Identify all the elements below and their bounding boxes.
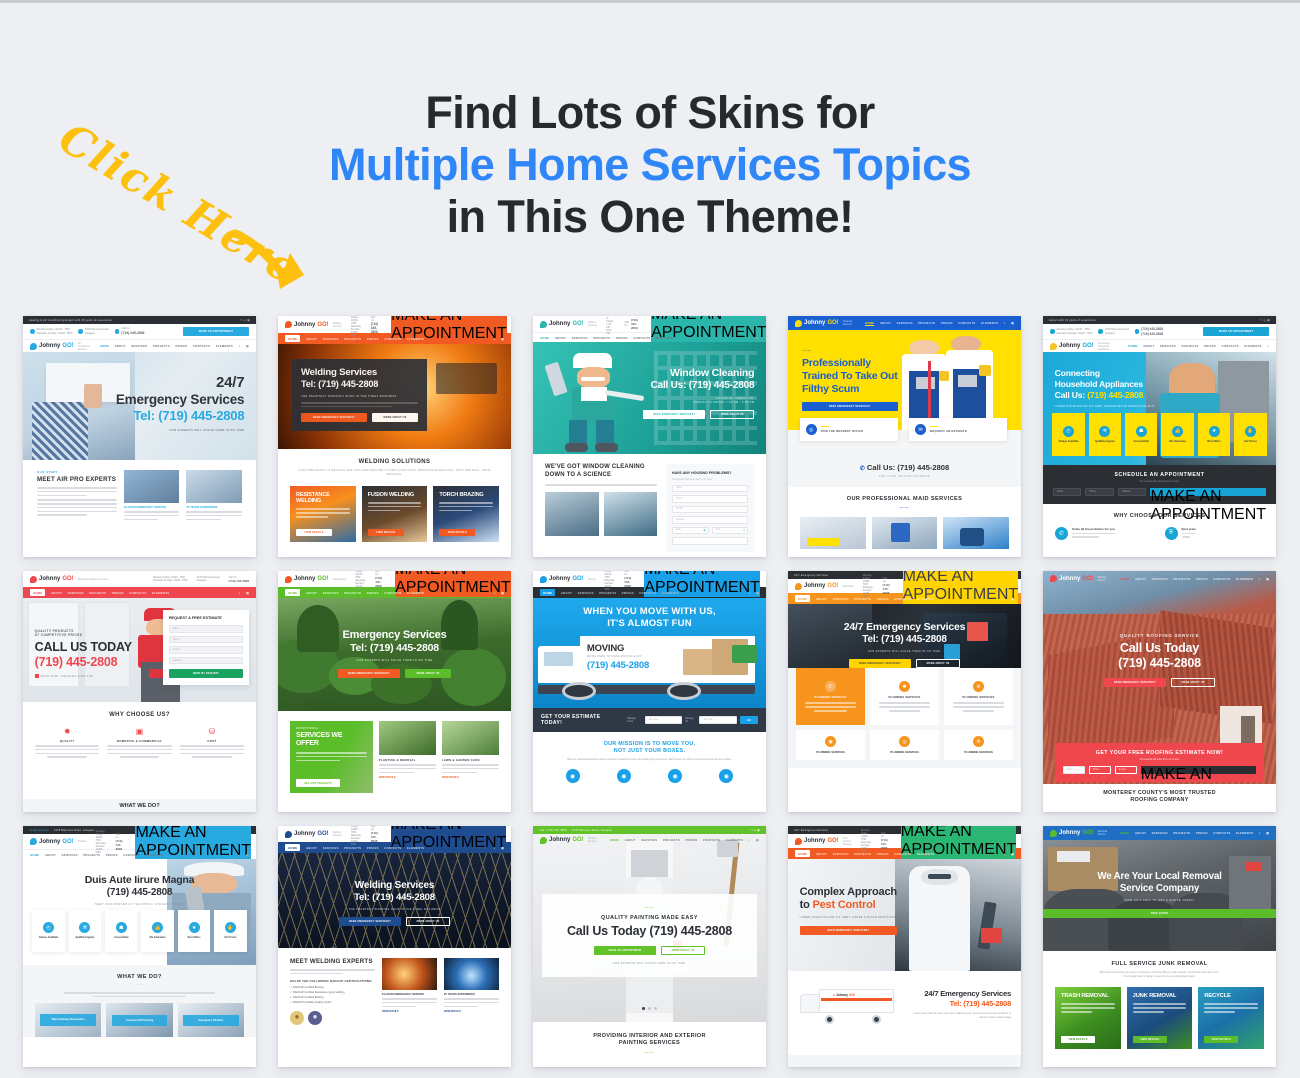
more-button[interactable]: MORE ABOUT US — [405, 669, 451, 678]
search-icon[interactable]: ⌕ — [1259, 577, 1261, 581]
hero-sub: GIVE US A CALL TO GET A QUOTE TODAY! — [1043, 899, 1276, 902]
search-icon[interactable]: ⌕ — [1259, 831, 1261, 835]
hero-hours: Mon-Fri: 10 AM - 7 PM, Sat-Sun: 10 AM - … — [41, 675, 93, 678]
emergency-button[interactable]: NEED EMERGENCY SERVICES? — [643, 410, 705, 419]
cert-item-4: ✓ NADCAP Certified Quality control — [290, 1001, 375, 1006]
badge-label-5: Best Offers — [1207, 440, 1220, 443]
hero-phone: Tel: (719) 445-2808 — [788, 634, 1021, 645]
badge-label-2: Qualified Agents — [75, 936, 94, 939]
input-phone[interactable]: Phone — [672, 495, 748, 503]
section-title-2: PAINTING SERVICES — [533, 1040, 766, 1046]
social-icons[interactable]: f t g ▣ — [750, 828, 760, 832]
form-title: SCHEDULE AN APPOINTMENT — [1053, 472, 1266, 478]
view-details-button-2[interactable]: VIEW DETAILS — [1133, 1036, 1167, 1043]
view-details-2[interactable]: VIEW DETAILS — [444, 1010, 499, 1013]
more-button[interactable]: MORE ABOUT US — [710, 410, 754, 419]
hero-sub: OUR EXPERTS WILL SOLVE THEM IN NO TIME. — [788, 650, 1021, 653]
form-sub: Our experts will solve them in no time — [1053, 480, 1266, 483]
hero-phone: Tel: (719) 445-2808 — [278, 892, 511, 903]
hero-phone: Tel: (719) 445-2808 — [278, 642, 511, 654]
wave-icon: 〰〰 — [802, 348, 898, 354]
search-icon[interactable]: ⌕ — [494, 846, 496, 850]
view-details-button-1[interactable]: VIEW DETAILS — [1061, 1036, 1095, 1043]
service-icon-3: ⚙ — [973, 681, 984, 692]
more-button[interactable]: MORE ABOUT US — [661, 946, 705, 955]
page-canvas: Click Here Find Lots of Skins for Multip… — [0, 3, 1300, 1078]
cart-icon[interactable]: ▣ — [756, 591, 759, 595]
logo[interactable]: JohnnyGO! Welding Services — [285, 321, 342, 328]
logo[interactable]: JohnnyGO! Landscaping — [285, 576, 346, 583]
truck-sub: WE'RE HERE TO MAKE MOVING EASY! — [587, 655, 663, 658]
service-icon-6: ✲ — [973, 736, 984, 747]
star-icon: ★ — [1209, 426, 1220, 437]
topbar-tagline: 24/7 Emergency Services — [794, 829, 828, 832]
hero-kicker: QUALITY ROOFING SERVICE — [1043, 633, 1276, 638]
hero-kicker: QUALITY PAINTING MADE EASY — [550, 915, 748, 921]
badge-label-6: Fair Prices — [1244, 440, 1257, 443]
input-name[interactable]: Name — [1053, 488, 1081, 496]
more-button[interactable]: MORE ABOUT US — [1171, 678, 1215, 687]
section-title: WHY CHOOSE US? — [35, 712, 244, 718]
hero-title-2: Service Company — [1043, 883, 1276, 894]
input-email[interactable]: E-mail — [169, 646, 243, 654]
section-sub: OUR STRENGTHS IN WELDING ARE FOCUSED ARO… — [290, 469, 499, 478]
view-details-button-3[interactable]: VIEW DETAILS — [439, 529, 475, 536]
location-icon: ◎ — [806, 424, 817, 435]
thumb-cleaning-maid[interactable]: JohnnyGO! Cleaning Services HOME ABOUTSE… — [788, 316, 1021, 557]
logo[interactable]: JohnnyGO! Removal Service — [1050, 830, 1113, 837]
clock-icon: ◴ — [743, 529, 745, 532]
phone-icon: ✆ — [1055, 527, 1068, 540]
topbar-address: 4378 Marmora Road, Glasgow — [572, 829, 613, 832]
emergency-button[interactable]: NEED EMERGENCY SERVICES? — [301, 413, 367, 422]
emergency-button[interactable]: NEED EMERGENCY SERVICES? — [802, 402, 898, 411]
hours-line-2: Saturday-Sunday: 10AM - 5PM — [37, 332, 73, 335]
thumb-electrician[interactable]: 24/7 Emergency Services f t g ▣ JohnnyGO… — [788, 571, 1021, 812]
input-email[interactable]: E-mail — [672, 506, 748, 514]
view-details-button-3[interactable]: VIEW DETAILS — [1204, 1036, 1238, 1043]
logo[interactable]: JohnnyGO! Connecting Household Appliance… — [1050, 342, 1121, 351]
search-icon[interactable]: ⌕ — [1004, 597, 1006, 601]
input-address[interactable]: Address — [169, 657, 243, 665]
check-icon: ✓ — [290, 1001, 292, 1004]
cart-icon[interactable]: ▣ — [1011, 597, 1014, 601]
field-label-2: Moving To — [685, 717, 696, 723]
send-request-button[interactable]: SEND MY REQUEST — [169, 669, 243, 678]
card-title-1: 24-HOUR EMERGENCY SERVICE — [382, 993, 437, 996]
hero-title-2: IT'S ALMOST FUN — [533, 618, 766, 629]
headline-line-3: in This One Theme! — [0, 191, 1300, 243]
logo[interactable]: JohnnyGO! Air Conditioner Services — [30, 342, 93, 351]
thumb-pest-control[interactable]: 24/7 Emergency Services f t g ▣ JohnnyGO… — [788, 826, 1021, 1067]
logo-bubble-icon — [540, 837, 547, 844]
wave-icon: 〰〰 — [550, 905, 748, 911]
person-icon: ☗ — [1136, 426, 1147, 437]
hero-phone: (719) 445-2808 — [23, 887, 256, 898]
free-quote-button[interactable]: FREE QUOTE — [1043, 909, 1276, 918]
hero-title-1: WHEN YOU MOVE WITH US, — [533, 606, 766, 617]
badge-icon-1: ◉ — [566, 769, 580, 783]
truck-word: MOVING — [587, 643, 663, 654]
hero-kicker-2: AT COMPETITIVE PRICES — [35, 633, 132, 637]
hero-title: CALL US TODAY — [35, 640, 132, 654]
logo-bubble-icon — [285, 321, 292, 328]
thumb-moving[interactable]: JohnnyGO! Moving Monday-Friday: 10AM - 7… — [533, 571, 766, 812]
cart-icon[interactable]: ▣ — [756, 838, 759, 842]
search-icon[interactable]: ⌕ — [238, 853, 240, 857]
search-icon[interactable]: ⌕ — [239, 591, 241, 595]
card-title-1: TRASH REMOVAL — [1061, 993, 1115, 999]
section-sub: We're a professional local moving compan… — [547, 758, 752, 762]
cart-icon[interactable]: ▣ — [1266, 831, 1269, 835]
badge-label-6: Fair Prices — [224, 936, 236, 939]
input-phone[interactable]: Phone — [169, 636, 243, 644]
feature-title-2: Best price — [1182, 527, 1197, 531]
view-details-2[interactable]: VIEW DETAILS — [442, 776, 499, 779]
phone-line: ✆ Call Us: (719) 445-2808 — [788, 463, 1021, 472]
gear-icon: ✲ — [1099, 426, 1110, 437]
logo-bubble-icon — [285, 831, 292, 838]
view-details-1[interactable]: VIEW DETAILS — [382, 1010, 437, 1013]
search-icon[interactable]: ⌕ — [749, 591, 751, 595]
cart-icon[interactable]: ▣ — [756, 336, 759, 340]
search-icon[interactable]: ⌕ — [494, 591, 496, 595]
cart-icon[interactable]: ▣ — [1011, 321, 1014, 325]
thumb-roofing[interactable]: JohnnyGO! Roofing Service HOME ABOUTSERV… — [1043, 571, 1276, 812]
card-title-2: 25 YEARS EXPERIENCE — [444, 993, 499, 996]
feature-title-1: Solve all the problems for you — [1072, 527, 1115, 531]
input-address[interactable]: Address — [1118, 488, 1146, 496]
logo[interactable]: JohnnyGO! Electrician — [795, 583, 854, 590]
search-icon[interactable]: ⌕ — [1267, 344, 1269, 348]
hero-sub: OUR EXPERTS WILL SOLVE THEM IN NO TIME — [116, 428, 245, 432]
thumb-welding-blue[interactable]: JohnnyGO! Welding Services Monday-Friday… — [278, 826, 511, 1067]
search-icon[interactable]: ⌕ — [238, 344, 240, 348]
wrench-icon: ⚒ — [79, 922, 90, 933]
thumb-window-cleaning[interactable]: JohnnyGO! Window Cleaning Monday to Frid… — [533, 316, 766, 557]
go-button[interactable]: GO — [740, 716, 758, 724]
section-title: MEET WELDING EXPERTS — [290, 958, 375, 965]
logo-bubble-icon: ● — [833, 993, 835, 997]
cart-icon[interactable]: ▣ — [1266, 577, 1269, 581]
service-icon-4: ◉ — [825, 736, 836, 747]
theme-skins-grid: Heating & Air Conditioning Expert with 2… — [23, 316, 1278, 1067]
section-kicker: OUR STORY — [37, 470, 117, 474]
next-section-title: WHAT WE DO? — [23, 803, 256, 809]
card-title-2: 25 YEARS EXPERIENCE — [186, 506, 242, 509]
hero-kicker: 24/7 — [116, 374, 245, 391]
check-icon: ✓ — [290, 986, 292, 989]
emergency-button[interactable]: NEED EMERGENCY SERVICES? — [339, 917, 401, 926]
hero-phone: Call Us: (719) 445-2808 — [643, 380, 754, 391]
see-projects-button[interactable]: SEE OUR PROJECTS — [296, 779, 340, 787]
card-title-1: Water Damage Restoration — [40, 1014, 96, 1025]
input-name[interactable]: Name — [169, 625, 243, 633]
emergency-button[interactable]: NEED EMERGENCY SERVICES? — [800, 926, 897, 935]
hours-label: Monday to Friday: 7:00 AM - 5:00 PM — [606, 316, 615, 335]
section-title-1: OUR MISSION IS TO MOVE YOU, — [547, 741, 752, 747]
section-title: WELDING SOLUTIONS — [290, 459, 499, 465]
emergency-button[interactable]: NEED EMERGENCY SERVICES? — [338, 669, 400, 678]
hero-title: 24/7 Emergency Services — [788, 621, 1021, 633]
headline-line-2: Multiple Home Services Topics — [0, 139, 1300, 191]
cart-icon[interactable]: ▣ — [501, 591, 504, 595]
hero-title: Duis Aute Iirure Magna — [23, 874, 256, 886]
badge-label-2: Qualified Agents — [1095, 440, 1115, 443]
estimate-title: GET YOUR ESTIMATE TODAY! — [541, 714, 622, 726]
badge-label-3: Accessibility — [114, 936, 129, 939]
section-title-2: NOT JUST YOUR BOXES. — [547, 748, 752, 754]
badge-label-4: We Guarantee — [1169, 440, 1186, 443]
submit-appointment-button[interactable]: MAKE AN APPOINTMENT — [1150, 488, 1266, 496]
section-title: WHAT WE DO? — [35, 974, 244, 980]
card-title-5: PLUMBING SERVICES — [890, 751, 919, 754]
input-phone[interactable]: Phone — [1089, 766, 1111, 774]
logo[interactable]: JohnnyGO! Window Installation Services — [30, 576, 108, 583]
slider-dots[interactable] — [533, 1007, 766, 1010]
input-message[interactable] — [672, 537, 748, 545]
box-label-1: FIND THE NEAREST OFFICE — [821, 429, 864, 433]
input-name[interactable]: Name — [1063, 766, 1085, 774]
form-title: HAVE ANY HOUSING PROBLEMS? — [672, 471, 748, 476]
band-sub: Lorem ipsum dolor sit amet conse ctetur … — [909, 1012, 1012, 1019]
cart-icon[interactable]: ▣ — [246, 344, 249, 348]
topbar-phone[interactable]: Call: (719) 445-2808 — [539, 829, 567, 832]
logo[interactable]: JohnnyGO! Window Cleaning — [540, 321, 597, 328]
service-icon-5: ◎ — [899, 736, 910, 747]
hero-title-1: Complex Approach — [800, 886, 897, 898]
star-icon: ★ — [189, 922, 200, 933]
topbar-email[interactable]: info@mail.com — [29, 829, 49, 832]
search-icon[interactable]: ⌕ — [1004, 852, 1006, 856]
logo[interactable]: JohnnyGO! Pest Control Services — [795, 837, 852, 846]
input-time[interactable]: Time◴ — [712, 527, 749, 535]
card-title-3: RECYCLE — [1204, 993, 1258, 999]
view-details-1[interactable]: VIEW DETAILS — [379, 776, 436, 779]
promo-title: SERVICES WE OFFER — [296, 732, 367, 748]
submit-appointment-button[interactable]: MAKE AN APPOINTMENT — [1141, 766, 1257, 774]
phone-icon — [115, 329, 120, 334]
main-menu[interactable]: HOME ABOUTSERVICES PROJECTSPRICES CONTAC… — [100, 344, 249, 348]
logo[interactable]: JohnnyGO! Moving — [540, 576, 595, 583]
logo[interactable]: JohnnyGO! Painting Services — [540, 837, 603, 844]
col-title-1: QUALITY — [35, 739, 99, 743]
card-title-2: Commercial Plumbing — [112, 1015, 168, 1026]
medal-icon: ✹ — [35, 727, 99, 736]
input-address[interactable]: Address — [672, 516, 748, 524]
cart-icon[interactable]: ▣ — [501, 337, 504, 341]
hero-sub: MEET OUR WORKER OF THE MONTH, STEVEN COO… — [23, 903, 256, 906]
search-icon[interactable]: ⌕ — [748, 838, 750, 842]
cert-title: HOLDS THE FOLLOWING NADCAP CERTIFICATION… — [290, 979, 375, 983]
page-title: Find Lots of Skins for Multiple Home Ser… — [0, 87, 1300, 244]
hero-sub: THE SMARTEST WORKING SHOP IN THE STEEL B… — [301, 394, 418, 398]
band-phone: Tel: (719) 445-2808 — [909, 999, 1012, 1008]
appointment-button[interactable]: MAKE AN APPOINTMENT — [1203, 327, 1269, 336]
logo[interactable]: JohnnyGO! Cleaning Services — [795, 320, 858, 327]
card-title-6: PLUMBING SERVICES — [964, 751, 993, 754]
section-title-2: ROOFING COMPANY — [1043, 797, 1276, 803]
coins-icon: ⛁ — [180, 727, 244, 736]
topbar-address: 4378 Marmora Road, Glasgow — [54, 829, 95, 832]
input-moving-to[interactable]: Zip Code — [699, 716, 737, 724]
card-title-3: TORCH BRAZING — [439, 492, 493, 498]
logo-bubble-icon — [540, 576, 547, 583]
search-icon[interactable]: ⌕ — [1004, 321, 1006, 325]
cart-icon[interactable]: ▣ — [246, 853, 249, 857]
cart-icon[interactable]: ▣ — [246, 591, 249, 595]
logo-bubble-icon — [30, 576, 37, 583]
section-title: OUR PROFESSIONAL MAID SERVICES — [800, 496, 1009, 502]
badge-icon-3: ◉ — [668, 769, 682, 783]
thumb-window-installation[interactable]: JohnnyGO! Window Installation Services M… — [23, 571, 256, 812]
band-sub: Our experts will solve them in no time — [1063, 758, 1257, 761]
badge-label-1: Always Available — [1058, 440, 1078, 443]
more-button[interactable]: MORE ABOUT US — [406, 917, 450, 926]
hero-phone-row: Call Us: (719) 445-2808 — [1055, 390, 1155, 400]
badge-icon-2: ◉ — [617, 769, 631, 783]
clock-icon — [1050, 329, 1055, 334]
view-details-button-2[interactable]: VIEW DETAILS — [368, 529, 404, 536]
appointment-button[interactable]: MAKE AN APPOINTMENT — [594, 946, 656, 955]
social-icons[interactable]: f t g ▣ — [240, 318, 250, 322]
section-title: MEET AIR PRO EXPERTS — [37, 476, 117, 483]
card-title-1: PLANTING & REMOVAL — [379, 758, 436, 762]
logo-bubble-icon — [540, 321, 547, 328]
input-email[interactable]: E-mail — [1115, 766, 1137, 774]
logo-bubble-icon — [1050, 830, 1057, 837]
thumb-welding-orange[interactable]: JohnnyGO! Welding Services Monday-Friday… — [278, 316, 511, 557]
pin-icon — [78, 329, 83, 334]
logo-bubble-icon — [285, 576, 292, 583]
hero-phone: (719) 445-2808 — [1043, 656, 1276, 670]
hero-phone: Tel: (719) 445-2808 — [116, 408, 245, 423]
hero-sub: OUR EXPERTS WILL SOLVE THEM IN NO TIME — [278, 659, 511, 662]
badge-label-1: Always Available — [39, 936, 58, 939]
hero-title-1: Connecting — [1055, 368, 1155, 378]
more-button[interactable]: MORE ABOUT US — [372, 413, 418, 422]
thumbs-up-icon: 👍 — [152, 922, 163, 933]
logo-bubble-icon — [1050, 575, 1057, 582]
hand-icon: ✋ — [1245, 426, 1256, 437]
cart-icon[interactable]: ▣ — [501, 846, 504, 850]
card-title-4: PLUMBING SERVICES — [816, 751, 845, 754]
hero-phone: Tel: (719) 445-2808 — [301, 379, 418, 389]
pin-icon — [1098, 329, 1103, 334]
thumb-household-appliances[interactable]: Expert with 15 years of experience f t g… — [1043, 316, 1276, 557]
hero-title-2: Trained To Take Out — [802, 370, 898, 382]
promo-kicker: EXCEPTIONAL — [296, 727, 367, 730]
main-menu[interactable]: HOME ABOUTSERVICES PROJECTSPRICES CONTAC… — [1128, 344, 1269, 348]
social-icons[interactable]: f t g ▣ — [1260, 318, 1270, 322]
cart-icon[interactable]: ▣ — [1011, 852, 1014, 856]
logo[interactable]: JohnnyGO! Roofing Service — [1050, 575, 1113, 582]
logo[interactable]: JohnnyGO! Plumber — [30, 838, 87, 845]
clock-icon: ◴ — [43, 922, 54, 933]
hand-icon: ✋ — [225, 922, 236, 933]
shield-icon: ⛨ — [1165, 527, 1178, 540]
main-menu[interactable]: HOME ABOUTSERVICES PROJECTSPRICES CONTAC… — [610, 838, 759, 842]
search-icon[interactable]: ⌕ — [494, 337, 496, 341]
buildings-icon: ▣ — [107, 727, 171, 736]
headline-line-1: Find Lots of Skins for — [0, 87, 1300, 139]
hero-sub: THE SMARTEST WORKING SHOP IN THE STEEL B… — [278, 908, 511, 911]
hero-title: Emergency Services — [278, 629, 511, 641]
section-sub-2: Our friendly team is happy to meet all o… — [1055, 975, 1264, 979]
badge-label-5: Best Offers — [188, 936, 201, 939]
form-sub: Our experts will solve them in no time — [672, 478, 748, 481]
col-title-2: DOMESTIC & COMMERCIAL — [107, 739, 171, 743]
hero-title-3: Filthy Scum — [802, 383, 898, 395]
topbar-tagline: Expert with 15 years of experience — [1049, 319, 1096, 322]
hero-title: Window Cleaning — [643, 367, 754, 379]
logo-bubble-icon — [1050, 343, 1057, 350]
thumb-plumber[interactable]: info@mail.com 4378 Marmora Road, Glasgow… — [23, 826, 256, 1067]
hero-sub-2: MONDAY TO FRIDAY 7:00 AM - 5:00 PM — [643, 401, 754, 404]
input-date[interactable]: Date▦ — [672, 527, 709, 535]
hero-title: Emergency Services — [116, 392, 245, 407]
field-label-1: Moving From — [627, 717, 641, 723]
thumbs-up-icon: 👍 — [1172, 426, 1183, 437]
form-title: REQUEST A FREE ESTIMATE — [169, 616, 243, 621]
hero-title: Call Us Today — [1043, 641, 1276, 655]
input-name[interactable]: Name — [672, 485, 748, 493]
input-moving-from[interactable]: Zip Code — [645, 716, 683, 724]
wave-icon: 〰〰 — [533, 1050, 766, 1056]
logo-bubble-icon — [795, 838, 802, 845]
hero-title-1: We Are Your Local Removal — [1043, 871, 1276, 882]
person-icon: ☗ — [116, 922, 127, 933]
truck-phone: (719) 445-2808 — [587, 660, 663, 671]
section-title: FULL SERVICE JUNK REMOVAL — [1055, 961, 1264, 967]
card-title-2: FUSION WELDING — [368, 492, 422, 498]
thumb-painting[interactable]: Call: (719) 445-2808 4378 Marmora Road, … — [533, 826, 766, 1067]
logo[interactable]: JohnnyGO! Welding Services — [285, 831, 342, 838]
view-details-button-1[interactable]: VIEW DETAILS — [296, 529, 332, 536]
card-title-1: PLUMBING SERVICES — [814, 696, 846, 699]
badge-label-3: Accessibility — [1134, 440, 1149, 443]
box-label-2: REQUEST AN ESTIMATE — [930, 429, 967, 433]
topbar-tagline: Heating & Air Conditioning Expert with 2… — [29, 319, 112, 322]
input-phone[interactable]: Phone — [1085, 488, 1113, 496]
address-line-2: Glasgow — [85, 332, 95, 335]
phone-icon: ✆ — [860, 466, 865, 472]
hero-phone: (719) 445-2808 — [35, 655, 132, 669]
col-title-3: COST — [180, 739, 244, 743]
hero-title: Welding Services — [278, 880, 511, 891]
section-title-1: PROVIDING INTERIOR AND EXTERIOR — [533, 1033, 766, 1039]
check-icon: ✓ — [290, 991, 292, 994]
thumb-air-conditioning[interactable]: Heating & Air Conditioning Expert with 2… — [23, 316, 256, 557]
emergency-button[interactable]: NEED EMERGENCY SERVICES? — [1104, 678, 1166, 687]
logo-bubble-icon — [795, 583, 802, 590]
card-title-3: PLUMBING SERVICES — [962, 696, 994, 699]
card-title-1: RESISTANCE WELDING — [296, 492, 350, 505]
card-title-2: LAWN & GARDEN CARE — [442, 758, 499, 762]
card-title-1: 24-HOUR EMERGENCY SERVICE — [124, 506, 180, 509]
clock-icon — [35, 674, 39, 678]
thumb-landscaping[interactable]: JohnnyGO! Landscaping Monday-Friday: 10A… — [278, 571, 511, 812]
award-badge-icon-2: ✹ — [308, 1011, 322, 1025]
appointment-button[interactable]: MAKE AN APPOINTMENT — [183, 327, 249, 336]
wave-icon: 〰〰 — [35, 982, 244, 988]
band-title: GET YOUR FREE ROOFING ESTIMATE NOW! — [1063, 750, 1257, 756]
service-icon-2: ✹ — [899, 681, 910, 692]
envelope-icon: ✉ — [915, 424, 926, 435]
clock-icon — [30, 329, 35, 334]
thumb-junk-removal[interactable]: JohnnyGO! Removal Service HOME ABOUTSERV… — [1043, 826, 1276, 1067]
search-icon[interactable]: ⌕ — [748, 336, 750, 340]
